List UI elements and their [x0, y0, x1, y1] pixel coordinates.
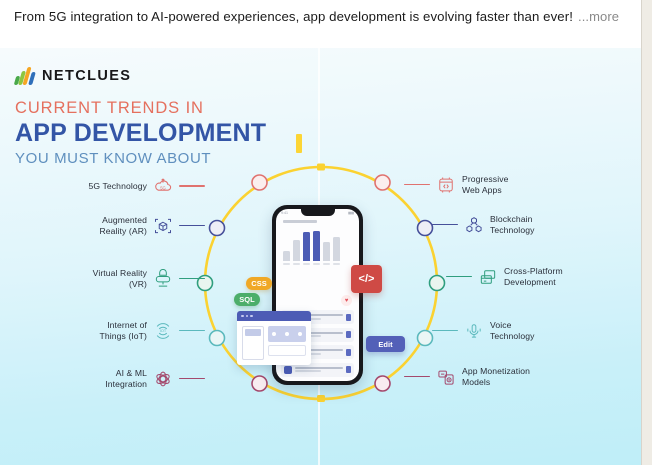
bar-chart [283, 227, 359, 261]
content-block [268, 326, 306, 342]
ar-cube-icon [153, 216, 173, 236]
list-item-action-icon[interactable] [346, 314, 351, 321]
netclues-logo: NETCLUES [15, 66, 131, 85]
window-title-bar [237, 311, 311, 321]
trend-item-vr[interactable]: Virtual Reality (VR) [38, 268, 205, 289]
chart-title-placeholder [283, 220, 317, 223]
trend-item-ar[interactable]: Augmented Reality (AR) [52, 215, 205, 236]
bar [283, 251, 290, 261]
connector-dash [446, 276, 472, 277]
headline-main: APP DEVELOPMENT [15, 119, 266, 148]
connector-dash [179, 378, 205, 379]
connector-dash [179, 225, 205, 226]
trend-label-monetization: App Monetization Models [462, 366, 530, 387]
trend-item-blockchain[interactable]: Blockchain Technology [432, 214, 534, 235]
progressive-web-app-icon [436, 175, 456, 195]
window-body [237, 321, 311, 365]
trend-label-pwa: Progressive Web Apps [462, 174, 508, 195]
bar [303, 232, 310, 261]
bar [333, 237, 340, 261]
trend-item-pwa[interactable]: Progressive Web Apps [404, 174, 508, 195]
browser-window-mockup [237, 311, 311, 365]
edit-button[interactable]: Edit [366, 336, 405, 352]
cloud-5g-icon: 5G [153, 176, 173, 196]
list-item-action-icon[interactable] [346, 366, 351, 373]
trend-item-ai-ml[interactable]: AI & ML Integration [70, 368, 205, 389]
badge-css: CSS [246, 277, 272, 290]
ring-top-tick [296, 134, 302, 153]
trend-label-iot: Internet of Things (IoT) [99, 320, 147, 341]
status-time: 9:41 [281, 211, 288, 215]
connector-dash [404, 376, 430, 377]
bar [313, 231, 320, 261]
trend-label-ar: Augmented Reality (AR) [99, 215, 147, 236]
connector-dash [404, 184, 430, 185]
phone-notch [301, 209, 335, 216]
connector-dash [432, 224, 458, 225]
trend-item-5g[interactable]: 5G Technology 5G [60, 176, 205, 196]
microphone-icon [464, 321, 484, 341]
bar [323, 242, 330, 261]
status-indicators: ▮▮▮ [348, 211, 354, 215]
post-caption-text: From 5G integration to AI-powered experi… [14, 9, 573, 24]
infographic-image: NETCLUES CURRENT TRENDS IN APP DEVELOPME… [0, 48, 641, 465]
list-item-action-icon[interactable] [346, 349, 351, 356]
trend-item-cross-platform[interactable]: Cross-Platform Development [446, 266, 563, 287]
vr-headset-icon [153, 269, 173, 289]
app-monetization-icon [436, 367, 456, 387]
cross-platform-icon [478, 267, 498, 287]
trend-label-5g: 5G Technology [89, 181, 147, 192]
badge-sql: SQL [234, 293, 260, 306]
trend-item-voice[interactable]: Voice Technology [432, 320, 534, 341]
see-more-link[interactable]: ...more [578, 9, 619, 24]
list-item-action-icon[interactable] [346, 331, 351, 338]
content-line [268, 345, 306, 356]
blockchain-icon [464, 215, 484, 235]
trend-label-vr: Virtual Reality (VR) [93, 268, 147, 289]
trend-item-iot[interactable]: Internet of Things (IoT) IOT [52, 320, 205, 341]
iot-signal-icon: IOT [153, 321, 173, 341]
chart-axis-labels [283, 263, 359, 265]
post-caption: From 5G integration to AI-powered experi… [14, 6, 627, 27]
bar [293, 240, 300, 261]
svg-text:5G: 5G [160, 186, 166, 191]
netclues-logo-mark-icon [15, 66, 35, 85]
post-caption-card: From 5G integration to AI-powered experi… [0, 0, 641, 48]
ai-atom-icon [153, 369, 173, 389]
window-sidebar [242, 326, 264, 360]
connector-dash [432, 330, 458, 331]
trend-label-blockchain: Blockchain Technology [490, 214, 534, 235]
badge-code: </> [351, 265, 382, 293]
trend-label-ai-ml: AI & ML Integration [105, 368, 147, 389]
trend-label-cross-platform: Cross-Platform Development [504, 266, 563, 287]
svg-text:IOT: IOT [160, 329, 167, 333]
connector-dash [179, 330, 205, 331]
screenshot-root: From 5G integration to AI-powered experi… [0, 0, 652, 465]
headline-kicker: CURRENT TRENDS IN [15, 98, 266, 118]
trend-label-voice: Voice Technology [490, 320, 534, 341]
netclues-logo-text: NETCLUES [42, 68, 131, 84]
connector-dash [179, 185, 205, 186]
connector-dash [179, 278, 205, 279]
right-edge-strip [641, 0, 652, 465]
window-content [268, 326, 306, 360]
list-item-text [295, 367, 343, 373]
trend-item-monetization[interactable]: App Monetization Models [404, 366, 530, 387]
list-item-icon [284, 366, 292, 374]
favorite-icon[interactable]: ♥ [341, 295, 352, 306]
